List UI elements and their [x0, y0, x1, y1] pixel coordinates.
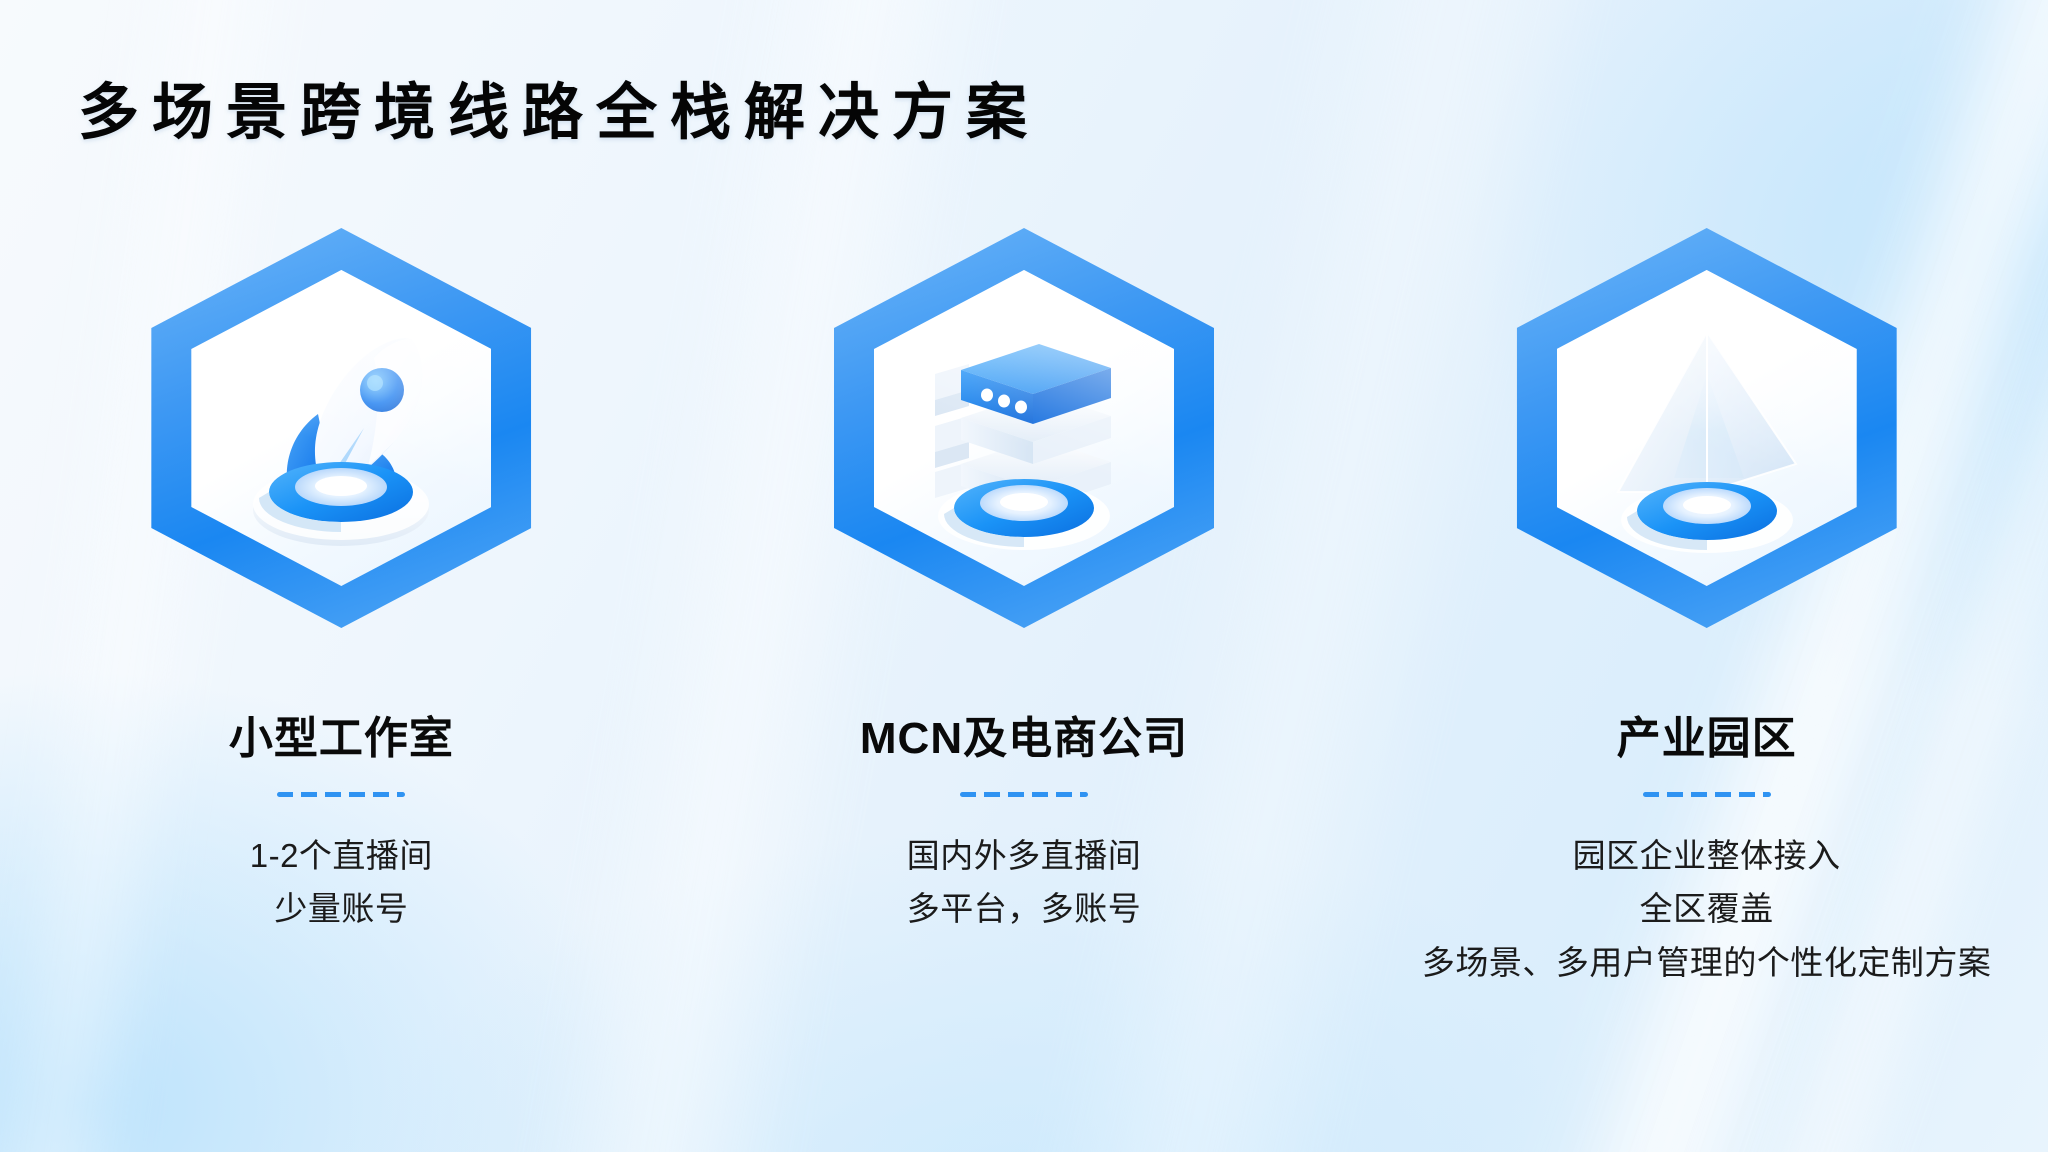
hexagon-icon-badge	[1517, 228, 1897, 628]
scenario-card-small-studio[interactable]: 小型工作室 1-2个直播间 少量账号	[0, 228, 683, 989]
hexagon-icon-badge	[151, 228, 531, 628]
scenario-card-industrial-park[interactable]: 产业园区 园区企业整体接入 全区覆盖 多场景、多用户管理的个性化定制方案	[1365, 228, 2048, 989]
card-divider	[960, 792, 1088, 797]
card-line: 少量账号	[250, 882, 433, 935]
card-description: 1-2个直播间 少量账号	[250, 829, 433, 936]
glass-pyramid-icon	[1557, 270, 1857, 586]
page-title: 多场景跨境线路全栈解决方案	[78, 62, 1040, 151]
hexagon-icon-badge	[834, 228, 1214, 628]
solution-scenarios-page: 多场景跨境线路全栈解决方案	[0, 0, 2048, 1152]
card-title: MCN及电商公司	[860, 702, 1188, 766]
card-divider	[1643, 792, 1771, 797]
rocket-icon	[191, 270, 491, 586]
card-description: 国内外多直播间 多平台，多账号	[907, 829, 1142, 936]
scenario-card-list: 小型工作室 1-2个直播间 少量账号	[0, 228, 2048, 989]
card-line: 国内外多直播间	[907, 829, 1142, 882]
card-divider	[277, 792, 405, 797]
card-title: 产业园区	[1617, 702, 1797, 766]
card-description: 园区企业整体接入 全区覆盖 多场景、多用户管理的个性化定制方案	[1422, 829, 1992, 989]
card-line: 园区企业整体接入	[1422, 829, 1992, 882]
card-title: 小型工作室	[229, 702, 454, 766]
card-line: 多平台，多账号	[907, 882, 1142, 935]
card-line: 全区覆盖	[1422, 882, 1992, 935]
card-line: 多场景、多用户管理的个性化定制方案	[1422, 936, 1992, 989]
server-stack-icon	[874, 270, 1174, 586]
card-line: 1-2个直播间	[250, 829, 433, 882]
scenario-card-mcn-ecommerce[interactable]: MCN及电商公司 国内外多直播间 多平台，多账号	[683, 228, 1366, 989]
